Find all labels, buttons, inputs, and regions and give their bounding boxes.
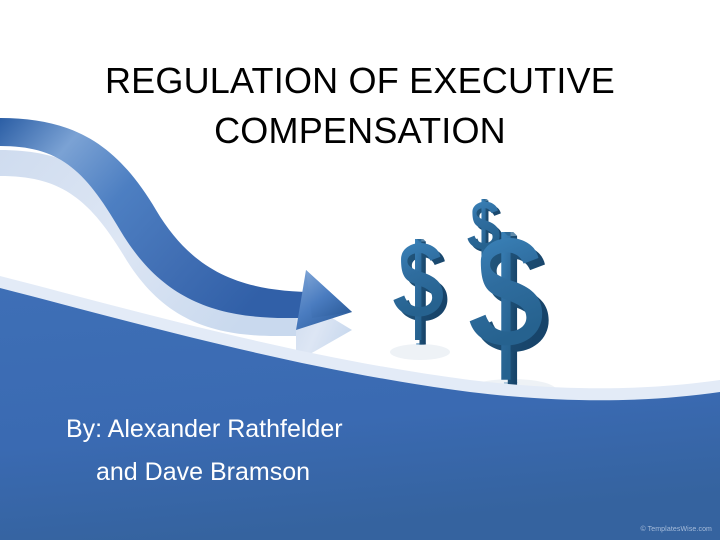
template-watermark: © TemplatesWise.com — [640, 526, 712, 533]
page-title: REGULATION OF EXECUTIVE COMPENSATION — [60, 56, 660, 156]
subtitle-line-2: and Dave Bramson — [66, 451, 586, 494]
slide-subtitle: By: Alexander Rathfelder and Dave Bramso… — [66, 408, 586, 494]
presentation-slide: REGULATION OF EXECUTIVE COMPENSATION By:… — [0, 0, 720, 540]
subtitle-line-1: By: Alexander Rathfelder — [66, 415, 343, 443]
